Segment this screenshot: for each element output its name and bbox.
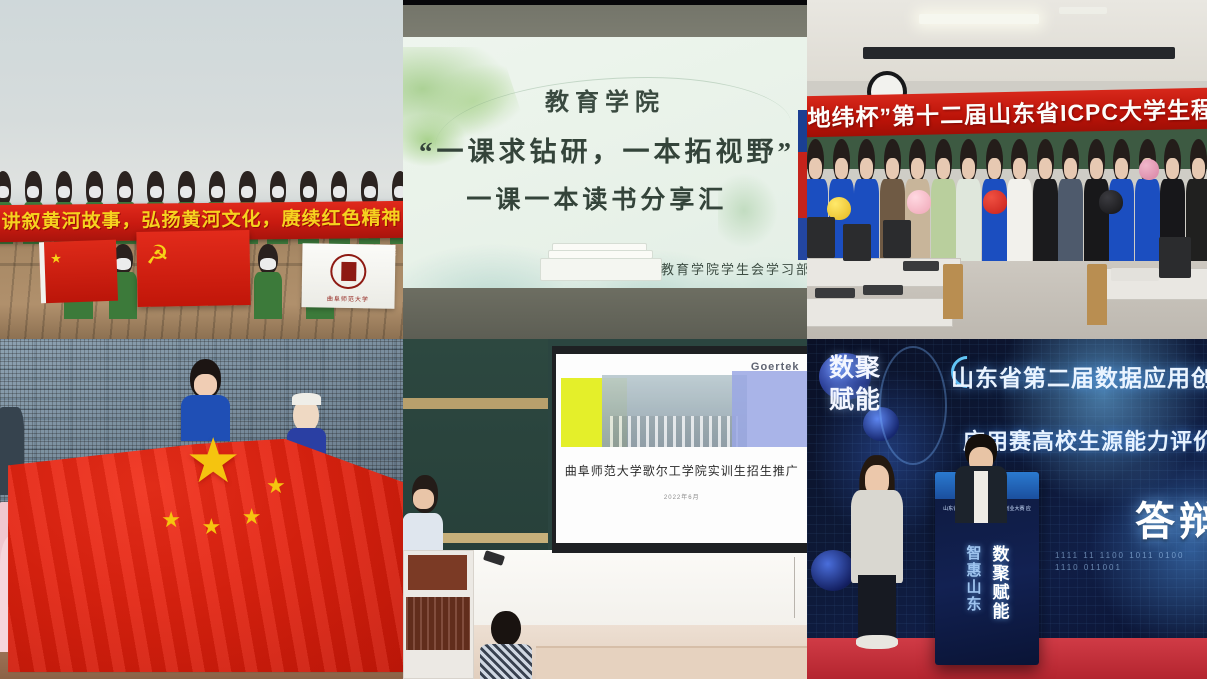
slide-building-photo: [602, 375, 747, 447]
slide-title: 曲阜师范大学歌尔工学院实训生招生推广: [556, 462, 807, 479]
slide-quote: “一课求钻研，一本拓视野”: [403, 130, 807, 169]
keyboard: [815, 288, 855, 298]
youth-league-flag: ★: [39, 239, 118, 303]
wall-above-screen: [403, 5, 807, 37]
small-star-icon: ★: [161, 509, 181, 531]
school-flag-text: 曲阜师范大学: [302, 294, 395, 305]
slide-date: 2022年6月: [556, 492, 807, 501]
kneeling-student: [254, 244, 282, 319]
backdrop-title: 山东省第二届数据应用创新创业大赛: [951, 359, 1207, 393]
photo-icpc-contest-group: “地纬杯”第十二届山东省ICPC大学生程序设计竞赛: [807, 0, 1207, 339]
photo-yellow-river-banner: 讲叙黄河故事，弘扬黄河文化，赓续红色精神 地理与旅游学院 ★ ☭ 曲阜师范大学: [0, 0, 403, 339]
balloon-icon: [1139, 159, 1159, 179]
photo-reading-share-slide: 教育学院 “一课求钻研，一本拓视野” 一课一本读书分享汇 教育学院学生会学习部: [403, 0, 807, 339]
backdrop-highlight: 答辩: [1135, 489, 1207, 547]
school-flag: 曲阜师范大学: [302, 243, 396, 309]
photo-goertek-recruiting-lecture: Goertek 曲阜师范大学歌尔工学院实训生招生推广 2022年6月: [403, 339, 807, 679]
keyboard: [863, 285, 903, 295]
projection-screen: Goertek 曲阜师范大学歌尔工学院实训生招生推广 2022年6月: [556, 354, 807, 543]
computer-monitor: [883, 220, 911, 257]
balloon-icon: [907, 190, 931, 214]
book-stack-icon: [540, 228, 661, 283]
party-flag: ☭: [136, 230, 250, 307]
balloon-icon: [983, 190, 1007, 214]
seated-student: [480, 611, 533, 679]
computer-monitor: [1159, 237, 1191, 278]
computer-monitor: [807, 217, 835, 258]
hammer-sickle-icon: ☭: [146, 241, 176, 276]
slide-subtitle: 一课一本读书分享汇: [411, 180, 783, 216]
chair: [943, 264, 963, 318]
ceiling-beam: [863, 47, 1175, 59]
presenter-right: [955, 434, 1007, 522]
wall-below-screen: [403, 288, 807, 339]
ceiling: [807, 0, 1207, 81]
fluorescent-light: [1059, 7, 1107, 14]
school-seal-icon: [331, 254, 367, 290]
contest-banner: “地纬杯”第十二届山东省ICPC大学生程序设计竞赛: [807, 87, 1207, 137]
keyboard: [903, 261, 939, 271]
slide-footer: 教育学院学生会学习部: [661, 259, 807, 278]
contest-banner-text: “地纬杯”第十二届山东省ICPC大学生程序设计竞赛: [807, 90, 1207, 133]
lab-desk: [807, 298, 953, 327]
projected-slide: 教育学院 “一课求钻研，一本拓视野” 一课一本读书分享汇 教育学院学生会学习部: [403, 37, 807, 288]
chair: [1087, 264, 1107, 325]
podium-slogan-a: 数聚赋能: [987, 545, 1012, 657]
photo-data-competition-defense: 数聚赋能 山东省第二届数据应用创新创业大赛 应用赛高校生源能力评价 答辩 111…: [807, 339, 1207, 679]
power-cord: [794, 557, 795, 618]
edge-color-strip: [798, 110, 807, 260]
slide-blue-block: [732, 371, 807, 447]
podium-slogan-b: 智惠山东: [963, 545, 984, 657]
decorative-orb: [811, 550, 855, 591]
balloon-icon: [1099, 190, 1123, 214]
fluorescent-light: [919, 14, 1039, 24]
decorative-ring: [879, 346, 947, 466]
lectern: [403, 550, 474, 679]
binary-decoration: 1111 11 1100 1011 0100 1110 011001: [1055, 550, 1199, 625]
small-star-icon: ★: [266, 475, 286, 497]
slide-title: 教育学院: [403, 82, 807, 117]
computer-monitor: [843, 224, 871, 261]
backdrop-calligraphy: 数聚赋能: [827, 353, 883, 418]
goertek-logo: Goertek: [751, 361, 800, 373]
student-desk-row: [536, 646, 807, 679]
keyboard: [1111, 268, 1159, 282]
small-star-icon: ★: [242, 506, 262, 528]
small-star-icon: ★: [202, 516, 222, 538]
photo-national-flag-performance: ★ ★ ★ ★ ★: [0, 339, 403, 679]
large-star-icon: ★: [185, 431, 241, 493]
projection-screen-frame: Goertek 曲阜师范大学歌尔工学院实训生招生推广 2022年6月: [552, 346, 807, 553]
presenter-left: [851, 451, 903, 645]
photo-collage: 讲叙黄河故事，弘扬黄河文化，赓续红色精神 地理与旅游学院 ★ ☭ 曲阜师范大学: [0, 0, 1207, 679]
star-icon: ★: [50, 250, 62, 266]
